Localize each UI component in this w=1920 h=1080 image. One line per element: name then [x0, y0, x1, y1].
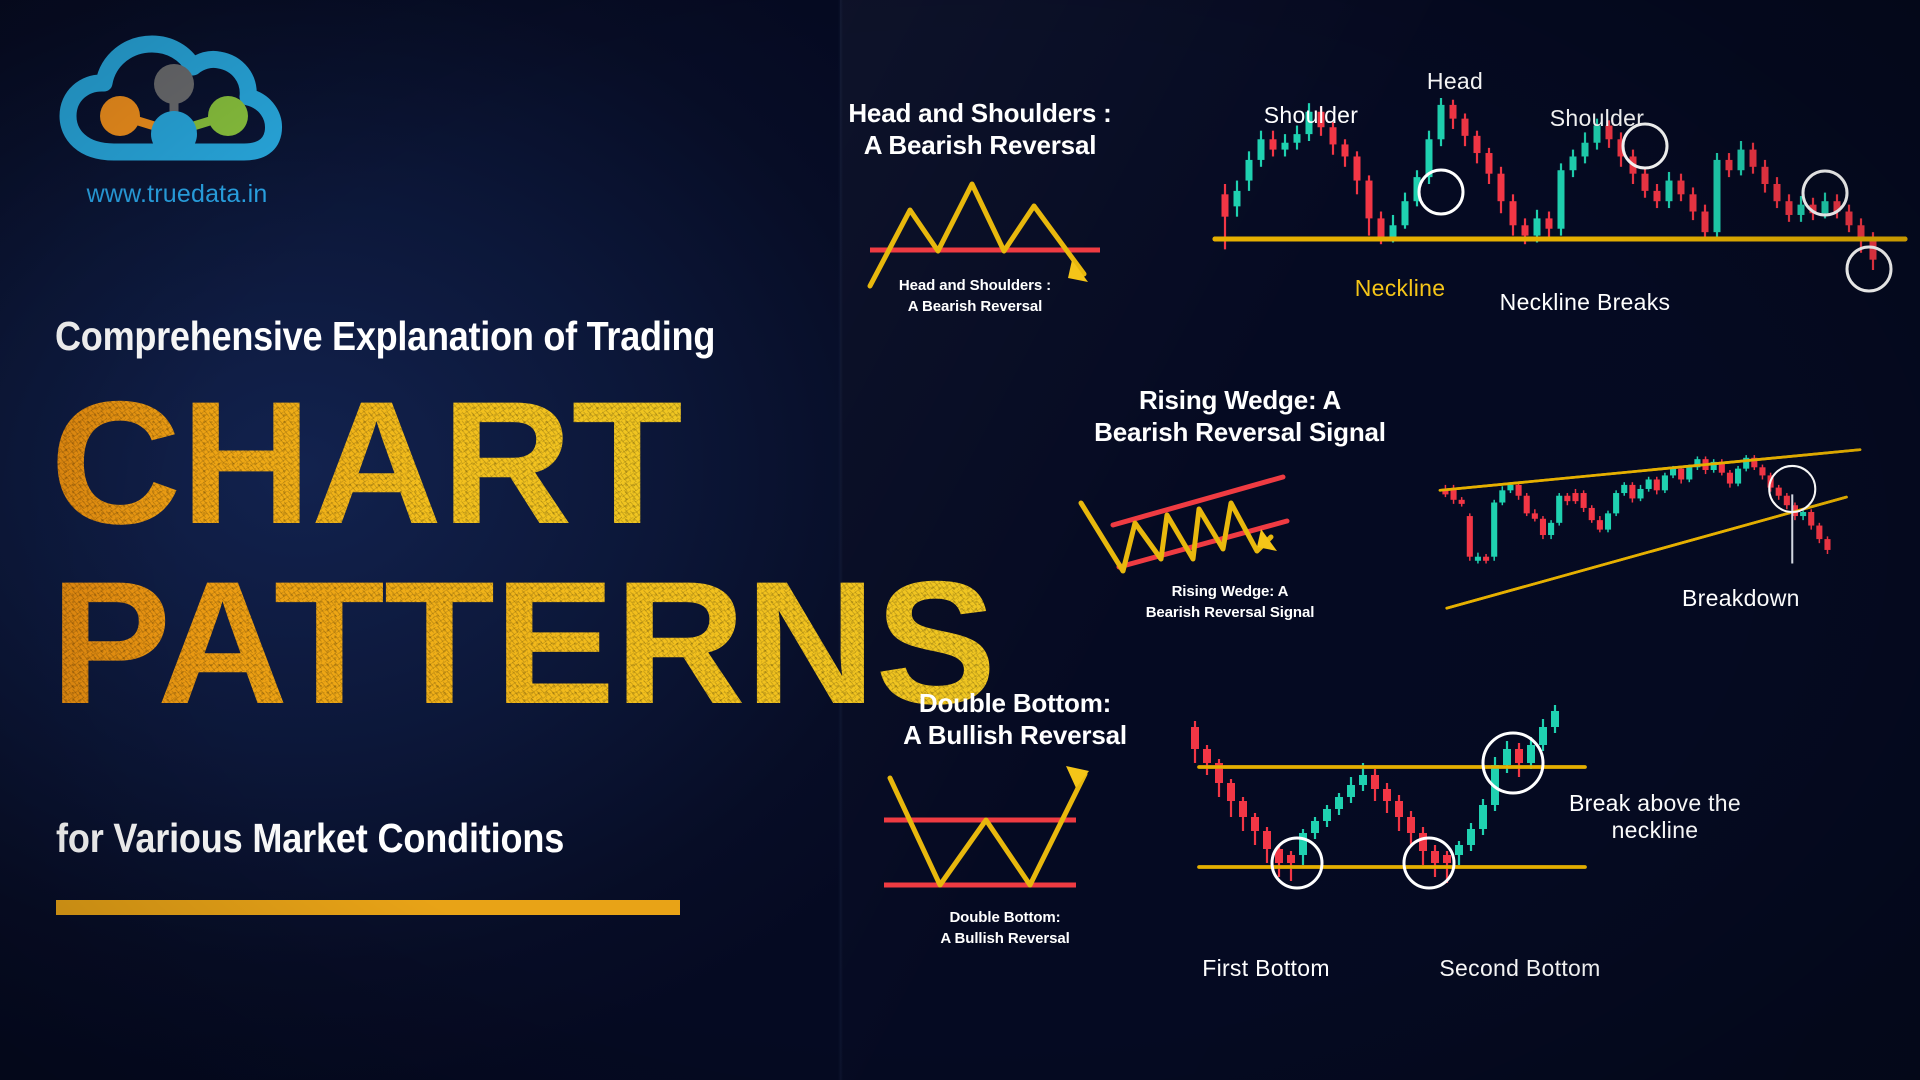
candle	[1690, 187, 1697, 220]
candle	[1774, 177, 1781, 208]
candle	[1402, 193, 1409, 229]
candle	[1726, 153, 1733, 177]
hero-title-line1: CHART	[50, 392, 682, 536]
candle	[1455, 841, 1463, 865]
candle	[1299, 829, 1307, 865]
candle	[1215, 759, 1223, 797]
candle	[1524, 493, 1530, 516]
node-right	[208, 96, 248, 136]
candle	[1282, 134, 1289, 156]
annotation-neckline: Neckline	[1355, 275, 1446, 302]
candle	[1694, 456, 1700, 470]
candle	[1475, 553, 1481, 564]
section-title-double-bottom: Double Bottom: A Bullish Reversal	[870, 688, 1160, 751]
candle	[1808, 509, 1814, 529]
hero-subline: for Various Market Conditions	[56, 815, 760, 862]
candle	[1383, 783, 1391, 813]
candle	[1294, 126, 1301, 150]
candle	[1597, 516, 1603, 532]
candle	[1738, 141, 1745, 175]
candlechart-rising-wedge	[1440, 418, 1860, 648]
node-top	[154, 64, 194, 104]
candle	[1637, 485, 1643, 501]
candle	[1347, 777, 1355, 803]
candle	[1438, 98, 1445, 146]
candle	[1467, 823, 1475, 851]
candle	[1743, 455, 1749, 471]
candle	[1735, 466, 1741, 486]
candle	[1642, 167, 1649, 198]
candle	[1227, 779, 1235, 817]
candle	[1498, 167, 1505, 213]
candle	[1551, 705, 1559, 733]
candle	[1646, 477, 1652, 492]
caption-line-1: Head and Shoulders :	[850, 276, 1100, 297]
candle	[1342, 139, 1349, 167]
annotation-breakdown: Breakdown	[1682, 585, 1800, 612]
candle	[1516, 482, 1522, 500]
annotation-head: Head	[1427, 68, 1483, 95]
infographic-poster: www.truedata.in Comprehensive Explanatio…	[0, 0, 1920, 1080]
candle	[1546, 212, 1553, 240]
candle	[1540, 516, 1546, 539]
candle	[1558, 163, 1565, 235]
annotation-first-bottom: First Bottom	[1202, 955, 1330, 982]
candle	[1605, 511, 1611, 533]
candle	[1548, 520, 1554, 539]
candle	[1654, 184, 1661, 208]
schematic-rising-wedge	[1075, 455, 1335, 585]
candle	[1582, 132, 1589, 163]
candle	[1714, 153, 1721, 237]
candle	[1824, 536, 1830, 554]
hero-title-line2: PATTERNS	[50, 572, 996, 716]
candle	[1479, 799, 1487, 835]
candle	[1834, 194, 1841, 218]
candle	[1258, 131, 1265, 167]
annotation-neckline-breaks: Neckline Breaks	[1500, 289, 1671, 316]
schematic-double-bottom	[880, 762, 1110, 902]
pattern-polyline	[870, 184, 1084, 286]
candle	[1366, 175, 1373, 235]
candle	[1581, 490, 1587, 512]
candle	[1251, 813, 1259, 845]
candle	[1462, 113, 1469, 146]
candle	[1323, 805, 1331, 827]
candle	[1589, 505, 1595, 523]
cloud-network-logo-icon	[52, 26, 302, 176]
caption-line-2: A Bearish Reversal	[850, 297, 1100, 318]
candle	[1556, 493, 1562, 526]
candle	[1515, 743, 1523, 777]
panel-divider	[838, 0, 843, 1080]
candle	[1354, 151, 1361, 194]
candle	[1666, 172, 1673, 208]
title-line-1: Rising Wedge: A	[1080, 385, 1400, 417]
marker-circle	[1847, 247, 1891, 291]
annotation-shoulder-right: Shoulder	[1550, 105, 1644, 132]
candle	[1483, 554, 1489, 563]
candle	[1702, 205, 1709, 239]
candle	[1203, 745, 1211, 775]
caption-line-1: Rising Wedge: A	[1100, 582, 1360, 603]
candle	[1711, 459, 1717, 473]
candle	[1474, 131, 1481, 164]
section-title-head-and-shoulders: Head and Shoulders : A Bearish Reversal	[830, 98, 1130, 161]
caption-line-2: A Bullish Reversal	[875, 929, 1135, 950]
title-line-2: A Bullish Reversal	[870, 720, 1160, 752]
section-title-rising-wedge: Rising Wedge: A Bearish Reversal Signal	[1080, 385, 1400, 448]
hero-accent-bar	[56, 900, 680, 915]
candle	[1572, 489, 1578, 504]
caption-double-bottom: Double Bottom: A Bullish Reversal	[875, 908, 1135, 949]
caption-head-and-shoulders: Head and Shoulders : A Bearish Reversal	[850, 276, 1100, 317]
caption-rising-wedge: Rising Wedge: A Bearish Reversal Signal	[1100, 582, 1360, 623]
candle	[1629, 482, 1635, 502]
candle	[1621, 482, 1627, 496]
candle	[1371, 769, 1379, 801]
caption-line-2: Bearish Reversal Signal	[1100, 603, 1360, 624]
candle	[1750, 143, 1757, 174]
candle	[1570, 150, 1577, 178]
candle	[1564, 493, 1570, 505]
candle	[1467, 513, 1473, 560]
candle	[1263, 827, 1271, 863]
title-line-1: Double Bottom:	[870, 688, 1160, 720]
title-line-1: Head and Shoulders :	[830, 98, 1130, 130]
marker-circle	[1419, 170, 1463, 214]
candle	[1191, 721, 1199, 763]
candle	[1246, 151, 1253, 191]
candle	[1786, 194, 1793, 222]
candle	[1662, 473, 1668, 493]
candle	[1239, 797, 1247, 831]
candle	[1270, 131, 1277, 157]
candle	[1459, 497, 1465, 506]
candle	[1762, 160, 1769, 193]
candle	[1776, 485, 1782, 500]
candle	[1532, 509, 1538, 521]
caption-line-1: Double Bottom:	[875, 908, 1135, 929]
candle	[1654, 477, 1660, 495]
candle	[1311, 817, 1319, 839]
candle	[1539, 719, 1547, 751]
candle	[1727, 470, 1733, 488]
candle	[1613, 490, 1619, 516]
candle	[1751, 455, 1757, 470]
brand-url[interactable]: www.truedata.in	[52, 180, 302, 209]
title-line-2: A Bearish Reversal	[830, 130, 1130, 162]
pattern-polyline	[890, 774, 1085, 885]
candle	[1431, 845, 1439, 877]
node-left	[100, 96, 140, 136]
candle	[1395, 795, 1403, 831]
candle	[1491, 500, 1497, 561]
candle	[1846, 205, 1853, 233]
candle	[1678, 174, 1685, 202]
candle	[1784, 493, 1790, 509]
candle	[1499, 486, 1505, 505]
candle	[1419, 827, 1427, 865]
annotation-line-1: Break above the	[1569, 790, 1741, 816]
candle	[1450, 100, 1457, 129]
annotation-break-above-neckline: Break above the neckline	[1540, 790, 1770, 844]
candle	[1335, 793, 1343, 815]
annotation-shoulder-left: Shoulder	[1264, 102, 1358, 129]
candle	[1816, 523, 1822, 543]
candle	[1486, 148, 1493, 184]
candle	[1510, 194, 1517, 235]
candle	[1678, 466, 1684, 484]
hero-kicker: Comprehensive Explanation of Trading	[55, 313, 741, 360]
annotation-line-2: neckline	[1612, 817, 1699, 843]
candle	[1234, 181, 1241, 217]
candle	[1759, 465, 1765, 480]
annotation-second-bottom: Second Bottom	[1439, 955, 1600, 982]
node-center	[151, 111, 197, 157]
pattern-polyline	[1081, 503, 1271, 571]
title-line-2: Bearish Reversal Signal	[1080, 417, 1400, 449]
brand-logo[interactable]: www.truedata.in	[52, 26, 302, 216]
